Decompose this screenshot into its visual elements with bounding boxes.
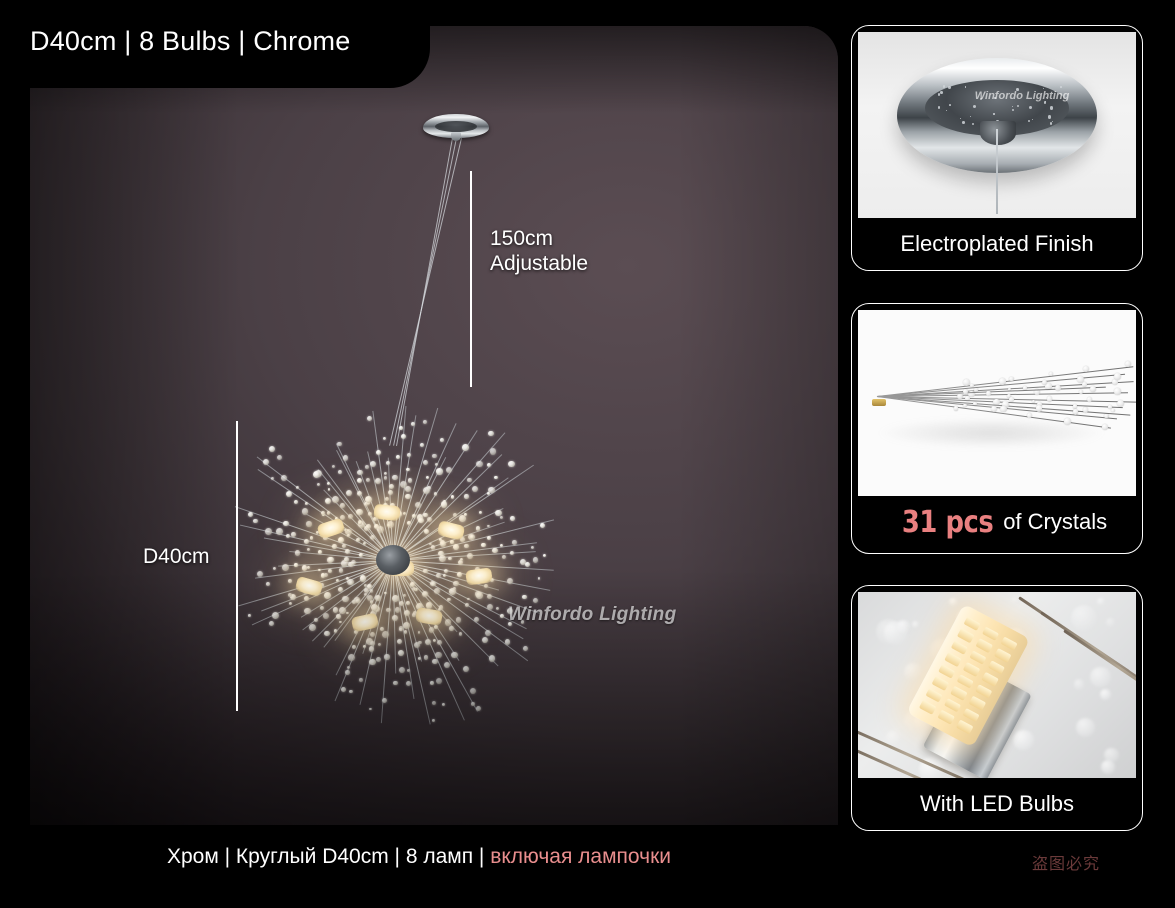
card-2-photo — [858, 310, 1136, 496]
crystal-bead — [359, 553, 363, 557]
chrome-canopy-illustration: Winfordo Lighting — [858, 32, 1136, 218]
crystal-bead — [439, 555, 446, 562]
crystal-bead — [423, 460, 428, 465]
crystal-bead — [418, 518, 423, 523]
crystal-bead — [368, 512, 372, 516]
crystal-bead — [484, 584, 488, 588]
crystal-bead — [342, 544, 346, 548]
feature-card-led-bulbs[interactable]: With LED Bulbs — [851, 585, 1143, 831]
crystal-bead — [512, 540, 517, 545]
crystal-bead — [378, 643, 382, 647]
feature-card-electroplated-finish[interactable]: Winfordo Lighting Electroplated Finish — [851, 25, 1143, 271]
crystal-bead — [467, 553, 473, 559]
crystal-bead — [370, 641, 375, 646]
crystal-bead — [437, 640, 442, 645]
crystal-bead — [423, 487, 430, 494]
led-chip — [938, 664, 955, 679]
card-1-label: Electroplated Finish — [858, 218, 1136, 270]
crystal-bead — [341, 687, 346, 692]
led-bulb — [373, 504, 400, 522]
crystal-bead — [367, 416, 372, 421]
canopy-speckle — [1060, 86, 1062, 88]
crystal-bead — [1102, 424, 1108, 430]
crystal-bead — [339, 607, 346, 614]
crystal-bead — [324, 631, 330, 637]
crystal-bead — [430, 681, 433, 684]
crystal-bead — [1104, 414, 1109, 419]
crystal-branch-illustration — [858, 310, 1136, 496]
crystal-bead — [434, 625, 438, 629]
crystal-bead — [286, 491, 292, 497]
led-chip — [1001, 636, 1018, 651]
crystal-bead — [309, 624, 316, 631]
crystal-bead — [387, 521, 394, 528]
crystal-bead — [356, 509, 363, 516]
crystal-bead — [363, 645, 366, 648]
crystal-bead — [476, 706, 481, 711]
led-bulb — [415, 607, 443, 626]
crystal-bead — [385, 497, 389, 501]
crystal-bead — [500, 516, 503, 519]
led-bulb-illustration — [858, 592, 1136, 778]
crystal-bead — [424, 529, 429, 534]
crystal-bead — [464, 544, 469, 549]
crystal-bead — [487, 604, 493, 610]
crystal-bead — [418, 631, 421, 634]
crystal-bead — [1000, 406, 1006, 412]
crystal-bead — [403, 622, 410, 629]
crystal-bead — [432, 701, 436, 705]
crystal-bead — [351, 560, 356, 565]
crystal-bead — [434, 588, 440, 594]
diameter-label: D40cm — [143, 544, 210, 569]
crystal-bead — [392, 475, 398, 481]
canopy-speckle — [993, 113, 994, 114]
drop-length-note: Adjustable — [490, 251, 588, 276]
crystal-bead — [1042, 380, 1047, 385]
crystal-bead — [399, 426, 403, 430]
crystal-bead — [490, 448, 496, 454]
crystal-bead — [318, 550, 322, 554]
canopy-speckle — [1052, 121, 1053, 122]
caption-accent: включая лампочки — [490, 845, 671, 868]
crystal-bead — [401, 434, 406, 439]
crystal-bead — [375, 478, 381, 484]
card-1-image-watermark: Winfordo Lighting — [975, 90, 1070, 102]
crystal-bead — [1023, 386, 1027, 390]
background-crystal — [1104, 748, 1119, 763]
branch-brass-tip — [872, 399, 886, 406]
crystal-bead — [339, 568, 344, 573]
led-chip — [926, 688, 943, 703]
crystal-bead — [271, 477, 274, 480]
led-chip — [982, 672, 999, 687]
crystal-bead — [502, 555, 506, 559]
crystal-bead — [407, 669, 410, 672]
crystal-bead — [359, 678, 362, 681]
led-chip — [919, 700, 936, 715]
crystal-bead — [432, 659, 438, 665]
crystal-bead — [248, 512, 253, 517]
crystal-bead — [450, 540, 453, 543]
crystal-bead — [1055, 385, 1062, 392]
crystal-bead — [489, 655, 495, 661]
crystal-bead — [510, 516, 515, 521]
led-chip — [938, 710, 955, 725]
crystal-bead — [492, 548, 497, 553]
crystal-bead — [384, 476, 388, 480]
crystal-bead — [344, 557, 348, 561]
crystal-bead — [533, 557, 538, 562]
crystal-bead — [317, 483, 320, 486]
crystal-bead — [375, 595, 380, 600]
crystal-bead — [443, 574, 446, 577]
crystal-bead — [380, 627, 384, 631]
crystal-bead — [348, 654, 355, 661]
crystal-bead — [407, 521, 411, 525]
crystal-bead — [386, 608, 391, 613]
card-3-photo — [858, 592, 1136, 778]
crystal-bead — [481, 543, 485, 547]
crystal-bead — [459, 632, 463, 636]
crystal-bead — [456, 617, 462, 623]
crystal-bead — [408, 478, 413, 483]
crystal-bead — [444, 662, 450, 668]
crystal-bead — [487, 594, 493, 600]
crystal-bead — [470, 535, 473, 538]
crystal-bead — [304, 608, 311, 615]
crystal-bead — [1073, 404, 1077, 408]
background-crystal — [1090, 667, 1110, 687]
led-chip — [964, 617, 981, 632]
crystal-bead — [957, 394, 962, 399]
crystal-bead — [389, 484, 394, 489]
crystal-bead — [436, 573, 441, 578]
crystal-bead — [348, 514, 353, 519]
crystal-bead — [384, 654, 389, 659]
crystal-bead — [482, 637, 488, 643]
crystal-bead — [328, 557, 333, 562]
crystal-bead — [272, 612, 279, 619]
crystal-bead — [1111, 409, 1114, 412]
crystal-bead — [432, 719, 435, 722]
crystal-bead — [273, 567, 276, 570]
canopy-speckle — [962, 121, 965, 124]
crystal-bead — [269, 446, 275, 452]
crystal-bead — [347, 534, 350, 537]
led-chip — [963, 708, 980, 723]
crystal-bead — [358, 520, 363, 525]
crystal-bead — [357, 470, 363, 476]
crystal-bead — [1090, 386, 1096, 392]
crystal-bead — [543, 554, 546, 557]
crystal-bead — [476, 461, 483, 468]
crystal-bead — [288, 579, 292, 583]
crystal-bead — [427, 517, 432, 522]
crystal-bead — [281, 475, 287, 481]
crystal-bead — [488, 487, 494, 493]
crystal-bead — [371, 604, 378, 611]
background-crystal — [912, 621, 919, 628]
feature-card-crystal-count[interactable]: 31 pcs of Crystals — [851, 303, 1143, 554]
crystal-bead — [333, 607, 339, 613]
crystal-bead — [508, 461, 514, 467]
crystal-bead — [334, 629, 338, 633]
crystal-bead — [399, 601, 404, 606]
crystal-bead — [522, 595, 527, 600]
page-title: D40cm | 8 Bulbs | Chrome — [30, 26, 350, 57]
led-chip — [988, 660, 1005, 675]
crystal-bead — [338, 470, 342, 474]
canopy-speckle — [948, 86, 951, 89]
crystal-bead — [446, 467, 452, 473]
crystal-bead — [453, 544, 459, 550]
crystal-bead — [345, 549, 350, 554]
crystal-bead — [433, 639, 436, 642]
crystal-bead — [1117, 400, 1124, 407]
crystal-bead — [954, 406, 959, 411]
crystal-bead — [320, 606, 324, 610]
crystal-bead — [328, 488, 331, 491]
card-2-label: 31 pcs of Crystals — [858, 496, 1136, 548]
led-chip — [969, 696, 986, 711]
crystal-bead — [366, 524, 371, 529]
crystal-bead — [332, 465, 335, 468]
crystal-bead — [434, 492, 438, 496]
crystal-bead — [447, 598, 451, 602]
crystal-bead — [505, 639, 511, 645]
crystal-bead — [346, 577, 349, 580]
crystal-bead — [327, 511, 330, 514]
crystal-bead — [445, 619, 451, 625]
crystal-bead — [422, 591, 428, 597]
crystal-bead — [310, 536, 314, 540]
crystal-bead — [364, 588, 369, 593]
crystal-bead — [403, 594, 406, 597]
crystal-bead — [432, 454, 436, 458]
crystal-bead — [314, 618, 318, 622]
crystal-bead — [1079, 390, 1083, 394]
crystal-bead — [294, 563, 297, 566]
crystal-bead — [407, 453, 411, 457]
copyright-watermark-cn: 盗图必究 — [1032, 850, 1100, 874]
crystal-bead — [463, 666, 469, 672]
crystal-bead — [510, 551, 514, 555]
crystal-bead — [307, 566, 310, 569]
background-crystal — [904, 663, 922, 681]
crystal-bead — [487, 536, 491, 540]
crystal-bead — [269, 621, 274, 626]
crystal-bead — [1125, 361, 1131, 367]
crystal-bead — [418, 657, 421, 660]
crystal-bead — [345, 670, 350, 675]
crystal-bead — [357, 491, 362, 496]
crystal-bead — [305, 502, 308, 505]
crystal-bead — [340, 503, 345, 508]
crystal-bead — [404, 630, 408, 634]
led-chip — [951, 640, 968, 655]
crystal-bead — [495, 510, 502, 517]
crystal-bead — [423, 420, 427, 424]
background-crystal — [1097, 598, 1105, 606]
crystal-bead — [332, 544, 337, 549]
crystal-bead — [338, 537, 344, 543]
crystal-bead — [1047, 396, 1053, 402]
crystal-bead — [406, 601, 410, 605]
crystal-bead — [523, 646, 528, 651]
canopy-speckle — [1028, 120, 1030, 122]
crystal-bead — [406, 681, 411, 686]
crystal-bead — [1073, 409, 1078, 414]
crystal-bead — [363, 542, 366, 545]
crystal-bead — [396, 455, 400, 459]
crystal-bead — [476, 592, 483, 599]
crystal-count-value: 31 pcs — [902, 505, 993, 540]
ceiling-canopy — [423, 106, 489, 140]
card-3-label: With LED Bulbs — [858, 778, 1136, 830]
led-chip — [976, 684, 993, 699]
crystal-bead — [474, 617, 479, 622]
crystal-bead — [365, 465, 369, 469]
crystal-bead — [440, 438, 444, 442]
crystal-bead — [266, 582, 270, 586]
crystal-bead — [449, 626, 453, 630]
crystal-bead — [525, 562, 530, 567]
crystal-bead — [342, 596, 349, 603]
crystal-bead — [253, 519, 257, 523]
crystal-bead — [369, 659, 376, 666]
crystal-bead — [1064, 418, 1071, 425]
crystal-bead — [1083, 366, 1089, 372]
crystal-bead — [383, 437, 386, 440]
crystal-bead — [424, 655, 428, 659]
crystal-bead — [488, 431, 494, 437]
crystal-bead — [538, 577, 541, 580]
crystal-bead — [265, 528, 272, 535]
crystal-bead — [366, 478, 370, 482]
card-1-photo: Winfordo Lighting — [858, 32, 1136, 218]
led-chip — [951, 686, 968, 701]
crystal-count-suffix: of Crystals — [1003, 509, 1107, 535]
canopy-speckle — [960, 118, 961, 119]
crystal-bead — [346, 490, 352, 496]
crystal-bead — [467, 478, 471, 482]
crystal-bead — [392, 615, 398, 621]
crystal-bead — [412, 514, 416, 518]
crystal-bead — [304, 596, 309, 601]
crystal-bead — [364, 593, 367, 596]
crystal-bead — [369, 646, 374, 651]
crystal-bead — [470, 688, 476, 694]
crystal-bead — [420, 443, 424, 447]
crystal-bead — [288, 593, 292, 597]
crystal-bead — [386, 461, 390, 465]
crystal-bead — [338, 587, 343, 592]
crystal-bead — [986, 391, 991, 396]
crystal-bead — [360, 575, 367, 582]
crystal-bead — [1114, 373, 1121, 380]
crystal-bead — [392, 595, 399, 602]
background-crystal — [1106, 618, 1115, 627]
crystal-bead — [382, 698, 387, 703]
drop-length-value: 150cm — [490, 226, 588, 251]
canopy-knob — [451, 132, 461, 141]
background-crystal — [1100, 689, 1111, 700]
crystal-bead — [1009, 377, 1013, 381]
led-chip — [944, 698, 961, 713]
crystal-bead — [321, 573, 326, 578]
crystal-bead — [431, 582, 435, 586]
crystal-bead — [354, 597, 359, 602]
led-chip — [932, 676, 949, 691]
crystal-bead — [487, 463, 491, 467]
crystal-bead — [414, 642, 420, 648]
led-chip — [982, 626, 999, 641]
background-crystal — [1076, 718, 1095, 737]
hero-product-image: 150cm Adjustable D40cm Winfordo Lighting — [30, 26, 838, 825]
crystal-bead — [393, 681, 398, 686]
crystal-bead — [533, 598, 538, 603]
crystal-bead — [442, 703, 445, 706]
crystal-bead — [295, 550, 301, 556]
background-crystal — [1101, 760, 1115, 774]
crystal-bead — [462, 444, 469, 451]
crystal-bead — [1036, 405, 1042, 411]
drop-length-label: 150cm Adjustable — [490, 226, 588, 276]
crystal-bead — [451, 495, 455, 499]
background-crystal — [1071, 605, 1097, 631]
led-chip-grid — [964, 604, 1030, 639]
crystal-bead — [332, 496, 339, 503]
crystal-bead — [283, 521, 288, 526]
led-chip — [945, 652, 962, 667]
crystal-bead — [464, 494, 468, 498]
crystal-bead — [457, 572, 462, 577]
crystal-bead — [436, 678, 442, 684]
crystal-bead — [448, 557, 451, 560]
crystal-bead — [282, 564, 289, 571]
crystal-bead — [328, 569, 332, 573]
crystal-bead — [435, 463, 438, 466]
canopy-speckle — [943, 85, 946, 88]
crystal-bead — [436, 468, 442, 474]
crystal-bead — [507, 578, 513, 584]
crystal-bead — [1083, 407, 1089, 413]
led-bulb — [465, 567, 493, 585]
crystal-bead — [479, 511, 482, 514]
caption-main: Хром | Круглый D40cm | 8 ламп | — [167, 845, 490, 868]
crystal-bead — [405, 486, 411, 492]
crystal-bead — [294, 500, 298, 504]
crystal-bead — [963, 404, 966, 407]
crystal-bead — [970, 384, 974, 388]
chandelier-hub — [376, 545, 410, 575]
crystal-bead — [307, 548, 310, 551]
crystal-bead — [370, 589, 374, 593]
crystal-bead — [325, 498, 331, 504]
led-chip — [970, 650, 987, 665]
crystal-bead — [289, 602, 292, 605]
crystal-bead — [444, 569, 448, 573]
canopy-cable — [996, 129, 998, 215]
crystal-bead — [410, 582, 414, 586]
crystal-bead — [369, 708, 372, 711]
crystal-bead — [388, 490, 393, 495]
product-detail-page: 150cm Adjustable D40cm Winfordo Lighting… — [0, 0, 1175, 908]
led-chip — [976, 638, 993, 653]
crystal-bead — [963, 389, 968, 394]
led-chip — [963, 662, 980, 677]
